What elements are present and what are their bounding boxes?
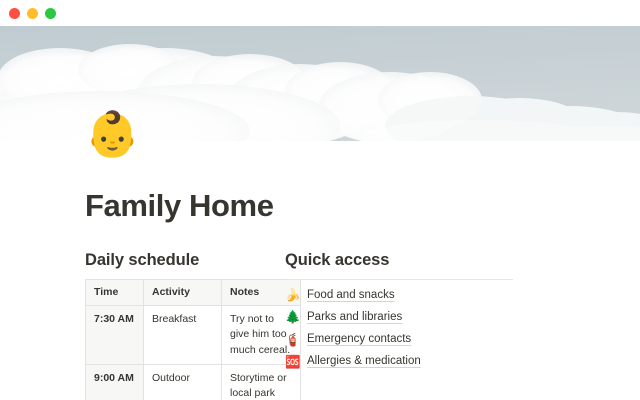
page-content: 👶 Family Home Daily schedule Time Activi…	[0, 141, 640, 400]
daily-schedule-heading: Daily schedule	[85, 251, 250, 270]
content-columns: Daily schedule Time Activity Notes	[0, 251, 640, 400]
quick-access-heading: Quick access	[285, 251, 550, 270]
zoom-window-button[interactable]	[45, 8, 56, 19]
cell-time[interactable]: 9:00 AM	[86, 364, 144, 400]
app-window: 👶 Family Home Daily schedule Time Activi…	[0, 0, 640, 400]
evergreen-tree-icon: 🌲	[285, 309, 300, 325]
cell-activity[interactable]: Breakfast	[144, 306, 222, 365]
quick-access-list: 🍌 Food and snacks 🌲 Parks and libraries …	[285, 287, 550, 370]
quick-access-divider	[285, 279, 513, 280]
close-window-button[interactable]	[9, 8, 20, 19]
minimize-window-button[interactable]	[27, 8, 38, 19]
fire-extinguisher-icon: 🧯	[285, 332, 300, 348]
quick-access-item-parks-and-libraries[interactable]: 🌲 Parks and libraries	[285, 309, 550, 325]
sos-button-icon: 🆘	[285, 354, 300, 370]
daily-schedule-column: Daily schedule Time Activity Notes	[0, 251, 250, 400]
quick-access-item-food-and-snacks[interactable]: 🍌 Food and snacks	[285, 287, 550, 303]
quick-access-label[interactable]: Food and snacks	[307, 288, 395, 303]
quick-access-column: Quick access 🍌 Food and snacks 🌲 Parks a…	[250, 251, 550, 400]
quick-access-label[interactable]: Emergency contacts	[307, 332, 411, 347]
quick-access-item-allergies-and-medication[interactable]: 🆘 Allergies & medication	[285, 354, 550, 370]
cell-time[interactable]: 7:30 AM	[86, 306, 144, 365]
quick-access-label[interactable]: Allergies & medication	[307, 354, 421, 369]
column-header-time[interactable]: Time	[86, 280, 144, 306]
window-titlebar	[0, 0, 640, 26]
banana-icon: 🍌	[285, 287, 300, 303]
baby-emoji-icon[interactable]: 👶	[85, 113, 140, 157]
quick-access-item-emergency-contacts[interactable]: 🧯 Emergency contacts	[285, 332, 550, 348]
page-title[interactable]: Family Home	[85, 189, 274, 223]
cell-activity[interactable]: Outdoor	[144, 364, 222, 400]
quick-access-label[interactable]: Parks and libraries	[307, 310, 402, 325]
column-header-activity[interactable]: Activity	[144, 280, 222, 306]
